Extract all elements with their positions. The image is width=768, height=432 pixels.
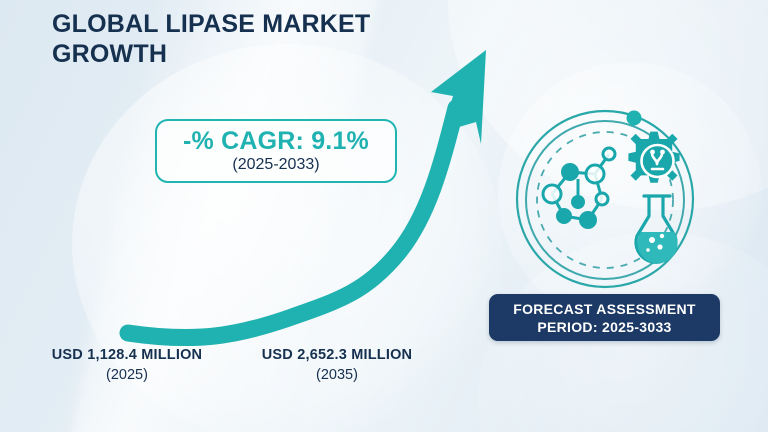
- cagr-callout-box: -% CAGR: 9.1% (2025-2033): [155, 119, 397, 183]
- gear-enzyme-icon: [628, 132, 679, 183]
- flask-icon: [636, 196, 678, 263]
- market-value-end-year: (2035): [232, 365, 442, 385]
- market-value-end-amount: USD 2,652.3 MILLION: [232, 346, 442, 365]
- forecast-badge-line-1: FORECAST ASSESSMENT: [513, 300, 696, 318]
- infographic-canvas: GLOBAL LIPASE MARKET GROWTH -% CAGR: 9.1…: [0, 0, 768, 432]
- page-title: GLOBAL LIPASE MARKET GROWTH: [52, 9, 482, 69]
- flask-bubble-2: [660, 234, 664, 238]
- flask-bubble-1: [649, 237, 655, 243]
- market-value-end: USD 2,652.3 MILLION (2035): [232, 346, 442, 385]
- cagr-period: (2025-2033): [232, 155, 319, 174]
- flask-bubble-4: [646, 248, 650, 252]
- enzyme-dot-right: [660, 150, 665, 155]
- market-value-start-year: (2025): [22, 365, 232, 385]
- enzyme-dot-left: [650, 150, 655, 155]
- forecast-badge-line-2: PERIOD: 2025-3033: [537, 318, 671, 336]
- market-value-start-amount: USD 1,128.4 MILLION: [22, 346, 232, 365]
- science-emblem: [512, 104, 698, 290]
- flask-bubble-3: [657, 244, 662, 249]
- emblem-accent-dot: [627, 111, 642, 126]
- market-value-start: USD 1,128.4 MILLION (2025): [22, 346, 232, 385]
- cagr-value: -% CAGR: 9.1%: [183, 128, 369, 154]
- forecast-assessment-badge: FORECAST ASSESSMENT PERIOD: 2025-3033: [489, 294, 720, 341]
- molecule-icon: [543, 148, 615, 229]
